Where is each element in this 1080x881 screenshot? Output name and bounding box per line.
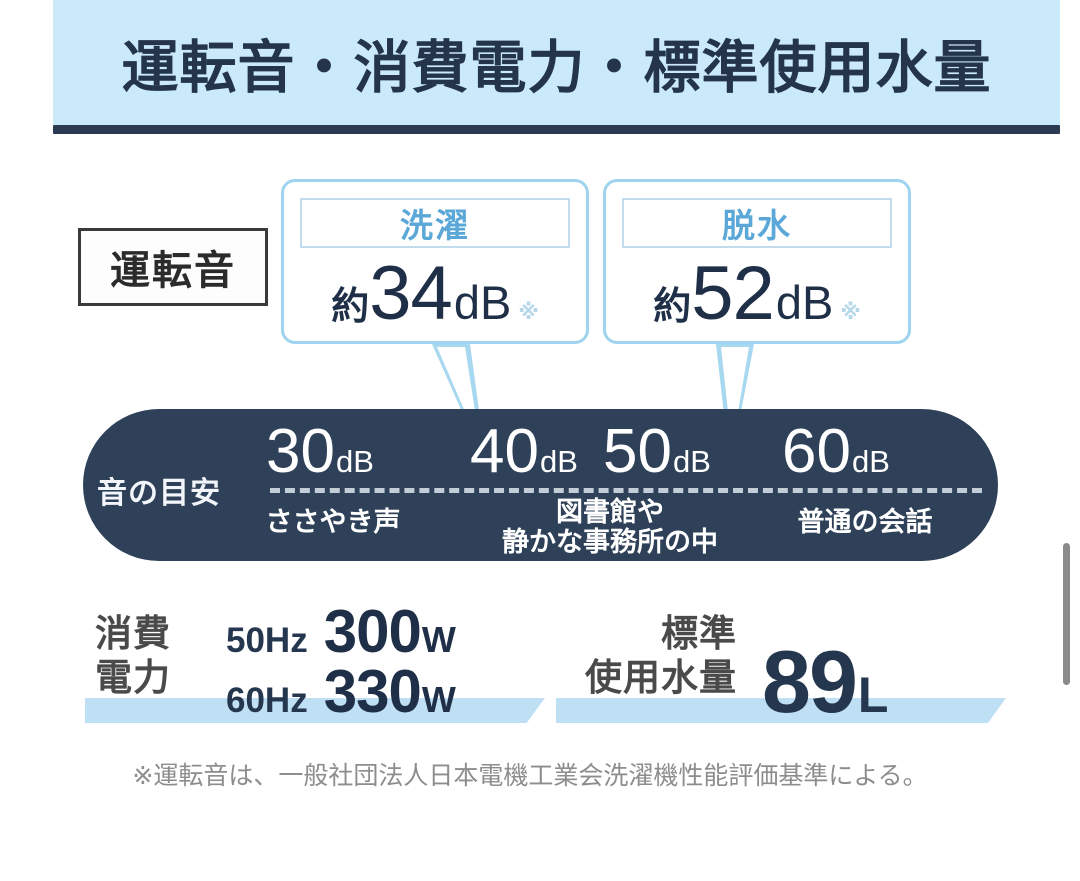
water-label-line1: 標準 bbox=[585, 612, 737, 656]
scale-tick-50db: 50 dB bbox=[603, 421, 711, 483]
scale-caption-line: 普通の会話 bbox=[770, 507, 960, 537]
spec-infographic: 運転音・消費電力・標準使用水量 運転音 洗濯 約 34 dB ※ 脱水 約 bbox=[0, 0, 1080, 881]
power-label-line2: 電力 bbox=[95, 656, 171, 700]
water-value-group: 89 L bbox=[762, 638, 888, 726]
page-title: 運転音・消費電力・標準使用水量 bbox=[53, 0, 1060, 125]
asterisk-icon-wash: ※ bbox=[518, 300, 538, 325]
water-value: 89 bbox=[762, 638, 856, 726]
callout-card-spin: 脱水 約 52 dB ※ bbox=[603, 179, 911, 344]
asterisk-icon-spin: ※ bbox=[840, 300, 860, 325]
callout-mode-label-spin: 脱水 bbox=[722, 199, 792, 247]
power-row-50hz: 50Hz 300 W bbox=[226, 602, 456, 662]
scale-tick-unit: dB bbox=[540, 444, 578, 480]
scale-tick-unit: dB bbox=[852, 444, 890, 480]
power-unit-50hz: W bbox=[422, 619, 456, 661]
power-row-60hz: 60Hz 330 W bbox=[226, 662, 456, 722]
sound-scale-guide-label: 音の目安 bbox=[97, 468, 221, 512]
callout-card-wash: 洗濯 約 34 dB ※ bbox=[281, 179, 589, 344]
power-value-50hz: 300 bbox=[324, 602, 421, 662]
scale-caption-line: 図書館や bbox=[470, 497, 750, 527]
scale-tick-40db: 40 dB bbox=[470, 421, 578, 483]
callout-mode-box-wash: 洗濯 bbox=[300, 198, 570, 248]
db-value-wash: 34 bbox=[369, 256, 452, 332]
scale-tick-60db: 60 dB bbox=[782, 421, 890, 483]
scale-tick-value: 60 bbox=[782, 421, 851, 483]
scale-tick-value: 50 bbox=[603, 421, 672, 483]
scale-caption-line: 静かな事務所の中 bbox=[470, 527, 750, 557]
scale-tick-unit: dB bbox=[336, 444, 374, 480]
vertical-scrollbar-thumb[interactable] bbox=[1063, 543, 1070, 685]
header-band: 運転音・消費電力・標準使用水量 bbox=[53, 0, 1060, 125]
db-unit-wash: dB bbox=[454, 275, 512, 330]
scale-caption-library: 図書館や 静かな事務所の中 bbox=[470, 497, 750, 557]
water-label-line2: 使用水量 bbox=[585, 656, 737, 700]
power-value-60hz: 330 bbox=[324, 662, 421, 722]
power-frequency-50hz: 50Hz bbox=[226, 621, 308, 661]
scale-caption-conversation: 普通の会話 bbox=[770, 507, 960, 537]
callout-value-spin: 約 52 dB ※ bbox=[606, 256, 908, 336]
sound-scale-axis bbox=[270, 488, 982, 493]
operating-sound-label: 運転音 bbox=[78, 228, 268, 306]
callout-value-wash: 約 34 dB ※ bbox=[284, 256, 586, 336]
water-unit: L bbox=[858, 666, 889, 724]
power-label: 消費 電力 bbox=[95, 612, 171, 699]
power-unit-60hz: W bbox=[422, 679, 456, 721]
scale-tick-30db: 30 dB bbox=[266, 421, 374, 483]
scale-tick-unit: dB bbox=[673, 444, 711, 480]
approx-prefix-wash: 約 bbox=[331, 275, 369, 330]
callout-mode-box-spin: 脱水 bbox=[622, 198, 892, 248]
power-frequency-60hz: 60Hz bbox=[226, 681, 308, 721]
scale-tick-value: 30 bbox=[266, 421, 335, 483]
scale-caption-line: ささやき声 bbox=[253, 507, 413, 537]
scale-tick-value: 40 bbox=[470, 421, 539, 483]
water-label: 標準 使用水量 bbox=[585, 612, 737, 699]
callout-mode-label-wash: 洗濯 bbox=[400, 199, 470, 247]
approx-prefix-spin: 約 bbox=[653, 275, 691, 330]
power-label-line1: 消費 bbox=[95, 612, 171, 656]
footnote-text: ※運転音は、一般社団法人日本電機工業会洗濯機性能評価基準による。 bbox=[0, 756, 1060, 792]
db-value-spin: 52 bbox=[691, 256, 774, 332]
scale-caption-whisper: ささやき声 bbox=[253, 507, 413, 537]
header-divider bbox=[53, 125, 1060, 134]
db-unit-spin: dB bbox=[776, 275, 834, 330]
